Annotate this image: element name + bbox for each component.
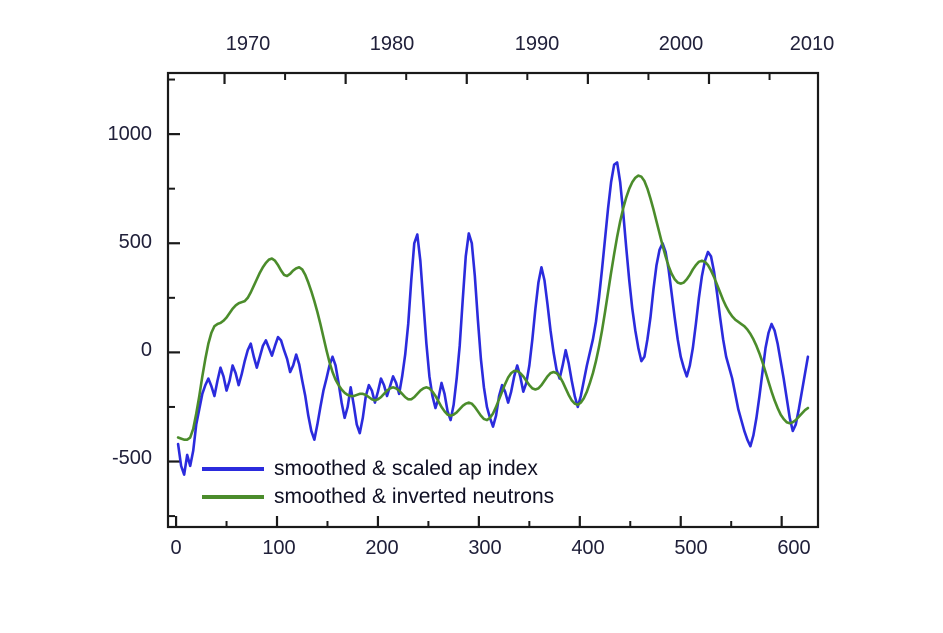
- legend-label-neutrons: smoothed & inverted neutrons: [274, 486, 554, 507]
- legend-swatch-ap-index: [202, 467, 264, 471]
- legend-swatch-neutrons: [202, 495, 264, 499]
- data-series-group: [178, 162, 808, 474]
- series-line-neutrons: [178, 176, 808, 440]
- legend-label-ap-index: smoothed & scaled ap index: [274, 458, 538, 479]
- plot-area: [0, 0, 943, 633]
- legend-item-ap-index[interactable]: smoothed & scaled ap index: [202, 458, 538, 479]
- chart-figure: 1970 1980 1990 2000 2010 1000 500 0 -500…: [0, 0, 943, 633]
- series-line-ap-index: [178, 162, 808, 474]
- legend-item-neutrons[interactable]: smoothed & inverted neutrons: [202, 486, 554, 507]
